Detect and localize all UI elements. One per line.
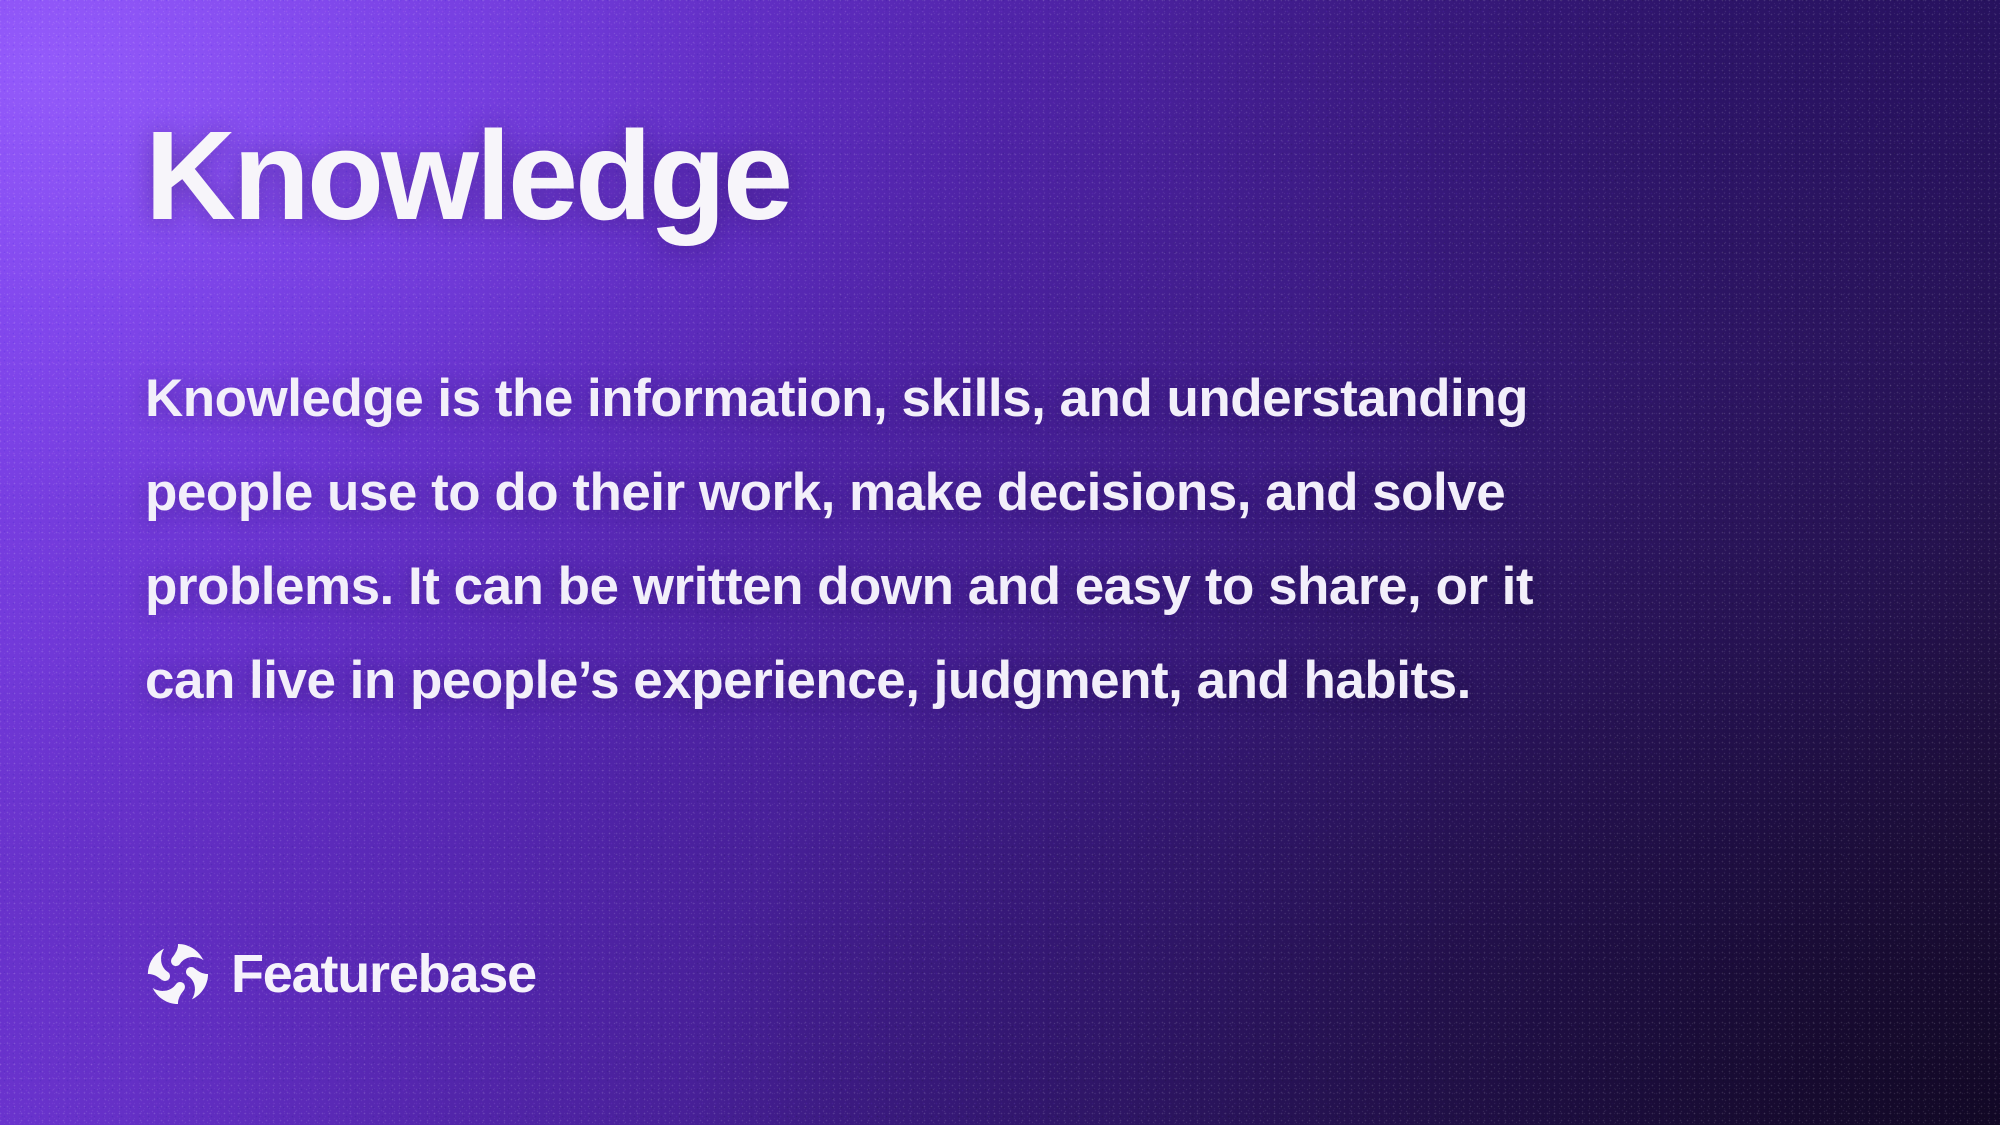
card-content: Knowledge Knowledge is the information, … [145,0,1935,1125]
featurebase-wordmark: Featurebase [231,947,536,1001]
body-line: problems. It can be written down and eas… [145,540,1845,634]
featurebase-pinwheel-icon [145,941,211,1007]
definition-body: Knowledge is the information, skills, an… [145,352,1845,728]
page-title: Knowledge [145,112,790,241]
body-line: Knowledge is the information, skills, an… [145,352,1845,446]
body-line: people use to do their work, make decisi… [145,446,1845,540]
body-line: can live in people’s experience, judgmen… [145,634,1845,728]
featurebase-logo: Featurebase [145,941,536,1007]
definition-card: Knowledge Knowledge is the information, … [0,0,2000,1125]
